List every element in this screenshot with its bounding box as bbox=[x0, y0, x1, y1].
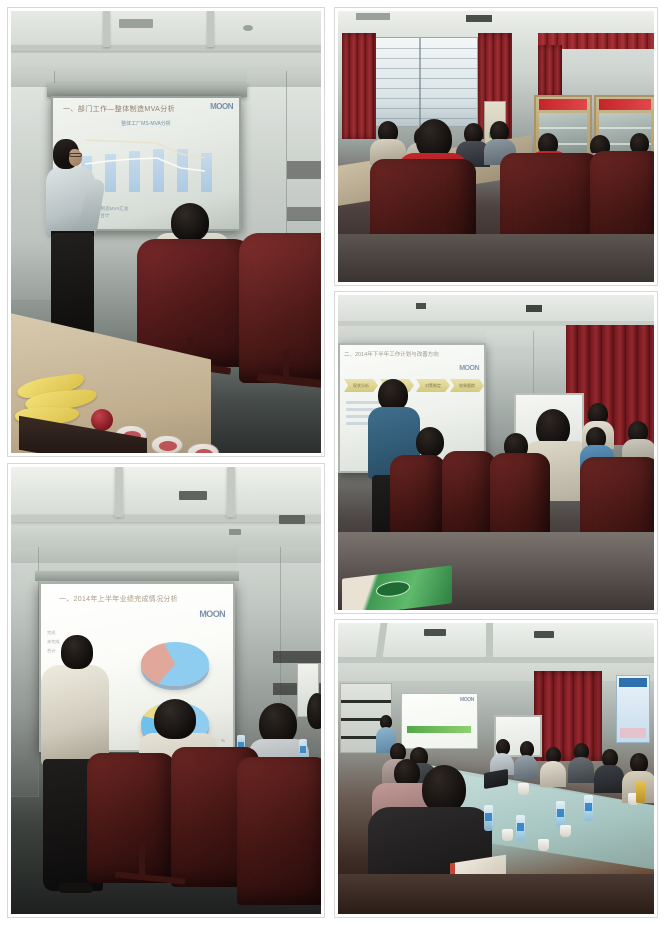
slide-title: 一、2014年上半年业绩完成情况分析 bbox=[59, 594, 223, 604]
cabinet-banner bbox=[599, 99, 651, 110]
water-bottle bbox=[584, 795, 593, 821]
ceiling-vent bbox=[526, 305, 542, 312]
attendee-body bbox=[568, 757, 594, 783]
attendee-body bbox=[594, 765, 624, 793]
attendee-head bbox=[154, 699, 196, 739]
conference-chair bbox=[237, 757, 321, 905]
glasses bbox=[69, 153, 82, 157]
paper-cup bbox=[502, 829, 513, 841]
photo-collage: 一、部门工作—整体制造MVA分析 MOON 整体工厂MS-MVA分析 bbox=[0, 0, 665, 925]
attendee-head bbox=[630, 753, 648, 773]
ceiling-vent bbox=[179, 491, 207, 500]
ceiling-vent bbox=[356, 13, 390, 20]
thermos bbox=[636, 781, 645, 803]
presenter-head bbox=[61, 635, 93, 669]
water-bottle bbox=[484, 805, 493, 831]
attendee-head bbox=[171, 203, 209, 241]
photo-top-right bbox=[335, 8, 657, 285]
poster-header bbox=[619, 678, 647, 687]
attendee-head bbox=[416, 427, 444, 457]
ceiling-vent bbox=[416, 303, 426, 309]
conference-chair bbox=[239, 233, 321, 383]
paper-cup bbox=[518, 783, 529, 795]
ceiling-vent bbox=[466, 15, 492, 22]
chair-leg bbox=[283, 351, 289, 381]
ceiling-beam bbox=[11, 45, 321, 51]
scene-process-slide: 二、2014年下半年工作计划与改善方向 MOON 现状分析 问题定位 对策制定 … bbox=[338, 295, 654, 610]
slide-progress-bar bbox=[407, 726, 471, 733]
wall-shelf bbox=[287, 207, 321, 221]
slide-title: 二、2014年下半年工作计划与改善方向 bbox=[344, 350, 480, 358]
scene-audience bbox=[338, 11, 654, 282]
curtain bbox=[342, 33, 376, 139]
pie-chart-1 bbox=[141, 642, 209, 686]
process-step-4: 效果跟踪 bbox=[450, 379, 484, 392]
dessert-cup bbox=[151, 435, 183, 453]
window bbox=[366, 37, 478, 127]
chair-leg bbox=[139, 843, 145, 877]
ceiling-beam bbox=[207, 11, 214, 47]
process-step-1: 现状分析 bbox=[344, 379, 378, 392]
poster-footer bbox=[620, 728, 646, 738]
wall-panel bbox=[11, 547, 39, 797]
curtain bbox=[534, 671, 602, 761]
process-step-3: 对策制定 bbox=[416, 379, 450, 392]
scene-wide-conference-table: MOON bbox=[338, 623, 654, 914]
ceiling-beam bbox=[11, 515, 321, 522]
dessert-cup bbox=[187, 443, 219, 453]
wall-shelf bbox=[273, 651, 321, 663]
curtain bbox=[538, 45, 562, 97]
attendee-body bbox=[540, 761, 566, 787]
photo-top-left: 一、部门工作—整体制造MVA分析 MOON 整体工厂MS-MVA分析 bbox=[8, 8, 324, 456]
wall-shelf bbox=[287, 161, 321, 179]
conference-chair bbox=[87, 753, 175, 883]
wall-poster bbox=[616, 675, 650, 743]
ceiling-light bbox=[243, 25, 253, 31]
ceiling-beam bbox=[227, 467, 235, 517]
ceiling-light bbox=[229, 529, 241, 535]
ceiling-vent bbox=[279, 515, 305, 524]
chart-title: 整体工厂MS-MVA分析 bbox=[53, 120, 239, 127]
ceiling-beam bbox=[103, 11, 110, 47]
scene-presentation-bar-chart: 一、部门工作—整体制造MVA分析 MOON 整体工厂MS-MVA分析 bbox=[11, 11, 321, 453]
attendee-head-foreground bbox=[422, 765, 466, 813]
apple bbox=[91, 409, 113, 431]
presenter-shoe bbox=[59, 883, 93, 893]
projector-screen-case bbox=[47, 83, 247, 97]
photo-bottom-right: MOON bbox=[335, 620, 657, 917]
moon-logo: MOON bbox=[459, 365, 479, 372]
ceiling-beam bbox=[115, 467, 123, 517]
attendee-body bbox=[514, 755, 538, 779]
projector-screen-case bbox=[35, 571, 239, 581]
wall-panel bbox=[287, 71, 321, 221]
ceiling-vent bbox=[534, 631, 554, 638]
ceiling-beam bbox=[486, 623, 493, 659]
presenter-torso bbox=[41, 665, 109, 765]
floor bbox=[338, 874, 654, 914]
moon-logo: MOON bbox=[199, 609, 225, 619]
photo-bottom-left: 一、2014年上半年业绩完成情况分析 MOON 完成 未完成 合计 单位：万元 … bbox=[8, 464, 324, 917]
cabinet-banner bbox=[539, 99, 587, 110]
floor bbox=[338, 234, 654, 282]
paper-cup bbox=[560, 825, 571, 837]
moon-logo: MOON bbox=[460, 697, 474, 703]
presenter-face bbox=[69, 149, 82, 166]
water-bottle bbox=[556, 801, 565, 827]
paper-cup bbox=[538, 839, 549, 851]
scene-pie-chart-presentation: 一、2014年上半年业绩完成情况分析 MOON 完成 未完成 合计 单位：万元 … bbox=[11, 467, 321, 914]
ceiling-vent bbox=[424, 629, 446, 636]
photo-middle-right: 二、2014年下半年工作计划与改善方向 MOON 现状分析 问题定位 对策制定 … bbox=[335, 292, 657, 613]
moon-logo: MOON bbox=[205, 102, 233, 114]
legend-item: 完成 bbox=[47, 628, 69, 637]
ceiling-beam bbox=[338, 657, 654, 663]
water-bottle bbox=[516, 815, 525, 841]
ceiling-vent bbox=[119, 19, 153, 28]
attendee-head bbox=[307, 693, 321, 729]
projector-screen: MOON bbox=[401, 693, 478, 749]
snack-box-logo bbox=[376, 579, 410, 598]
